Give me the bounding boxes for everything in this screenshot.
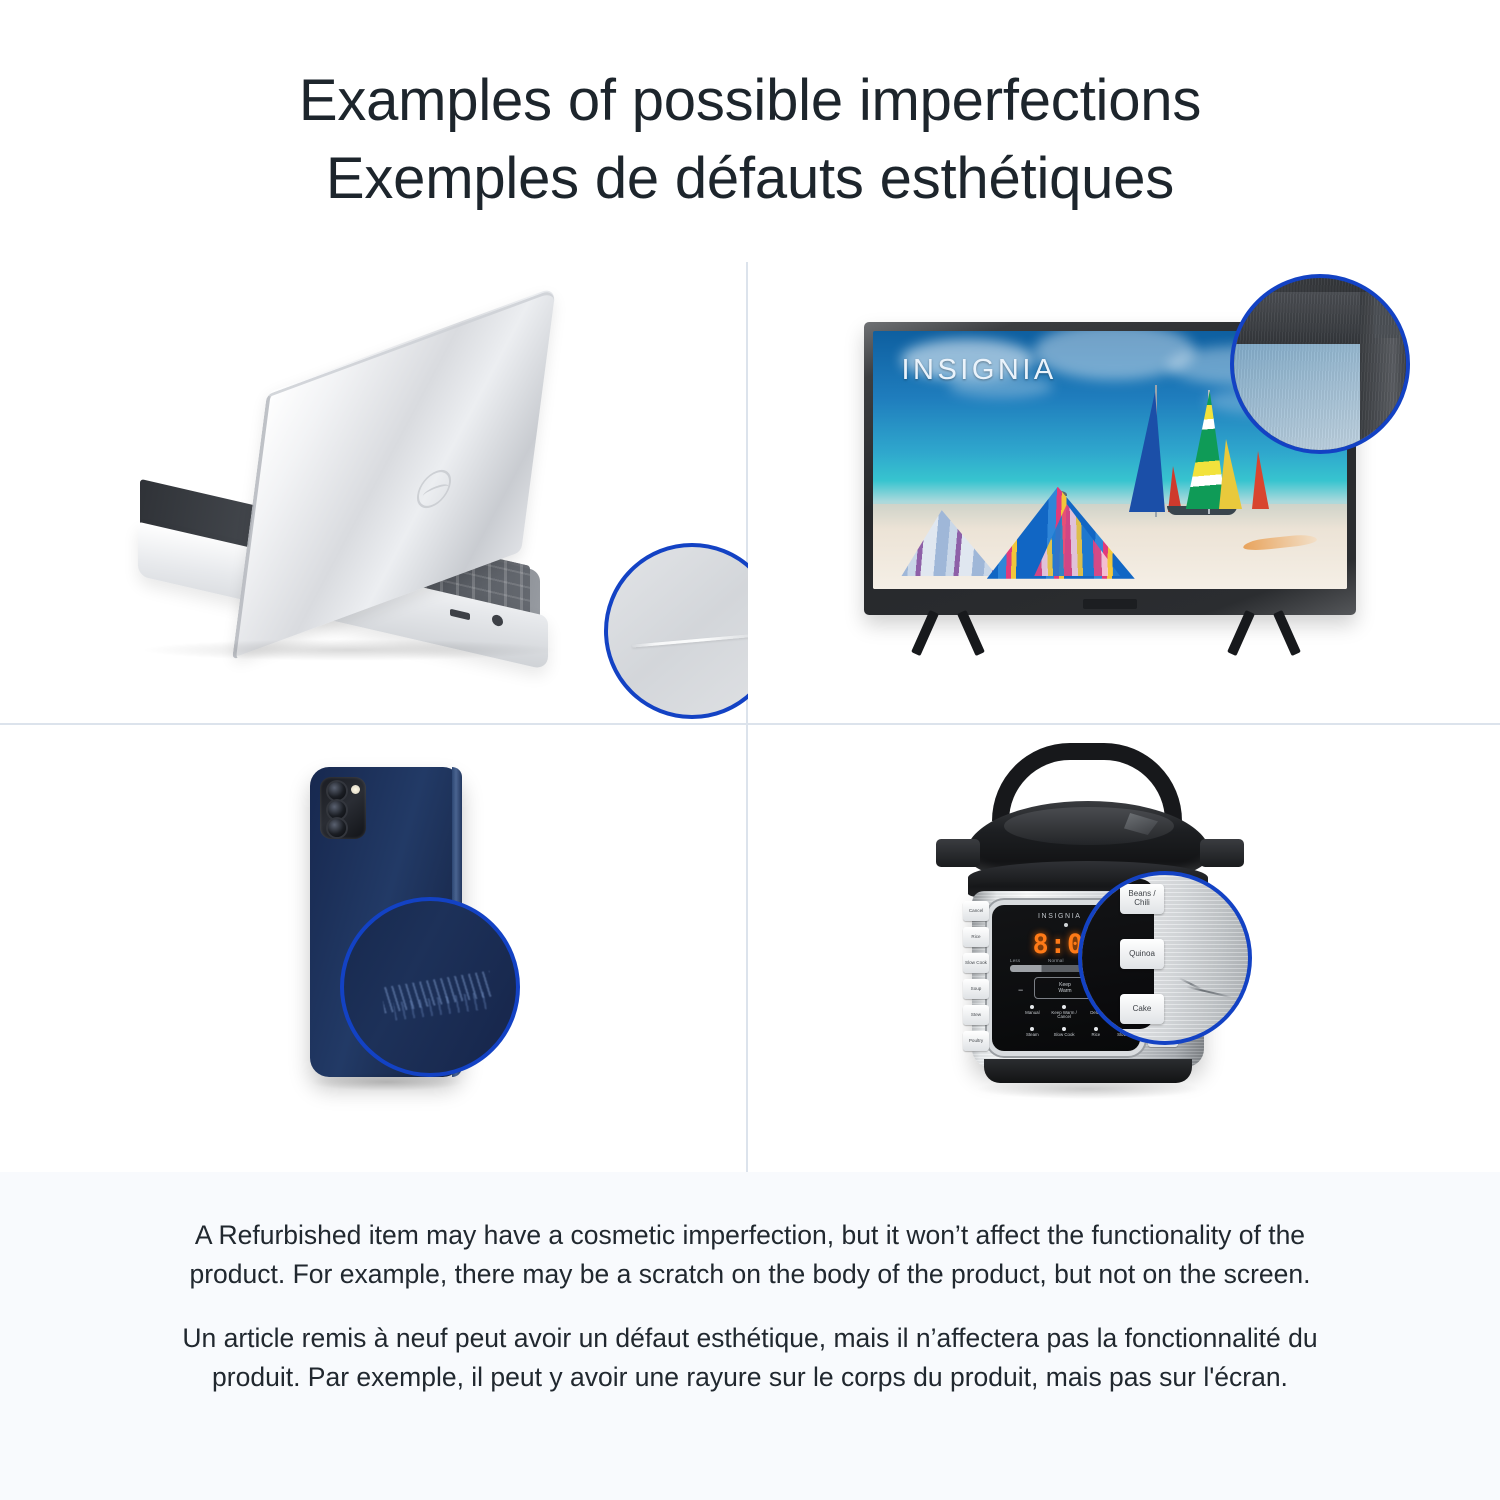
- pressure-cooker-graphic: INSIGNIA 8:00 Less Normal More Keep Warm: [928, 743, 1258, 1113]
- cooker-button[interactable]: Soup: [963, 979, 989, 999]
- cooker-brand-logo: INSIGNIA: [1038, 913, 1082, 920]
- magnifier-circle-pressure-cooker: lay w Cook Beans / Chili Quinoa Cake: [1078, 871, 1252, 1045]
- tv-stand-leg-left: [908, 610, 994, 652]
- keep-warm-line-2: Warm: [1058, 988, 1071, 994]
- slider-label-normal: Normal: [1048, 958, 1064, 963]
- red-sail: [1252, 451, 1269, 509]
- header: Examples of possible imperfections Exemp…: [0, 0, 1500, 262]
- page-title-fr: Exemples de défauts esthétiques: [326, 140, 1174, 218]
- function-key[interactable]: Steam: [1018, 1027, 1047, 1046]
- camera-module-icon: [320, 777, 366, 839]
- function-key[interactable]: Slow Cook: [1050, 1027, 1079, 1046]
- camera-flash-icon: [351, 785, 360, 794]
- function-key[interactable]: Manual: [1018, 1005, 1047, 1024]
- tv-screen-brand-logo: INSIGNIA: [901, 354, 1056, 387]
- example-cell-laptop: [0, 262, 748, 725]
- television-graphic: INSIGNIA: [864, 292, 1364, 652]
- camera-lens-icon: [328, 782, 346, 800]
- scratch-mark: [632, 633, 760, 647]
- zoomed-button-quinoa[interactable]: Quinoa: [1120, 939, 1164, 969]
- example-cell-smartphone: [0, 725, 748, 1172]
- laptop-illustration: [0, 262, 746, 723]
- footer-description: A Refurbished item may have a cosmetic i…: [0, 1172, 1500, 1500]
- page-title-en: Examples of possible imperfections: [299, 62, 1201, 140]
- red-sail: [1168, 466, 1182, 512]
- example-cell-pressure-cooker: INSIGNIA 8:00 Less Normal More Keep Warm: [748, 725, 1500, 1172]
- infographic-page: Examples of possible imperfections Exemp…: [0, 0, 1500, 1500]
- smartphone-illustration: [0, 725, 746, 1172]
- product-examples-grid: INSIGNIA: [0, 262, 1500, 1172]
- function-key[interactable]: Keep Warm / Cancel: [1050, 1005, 1079, 1024]
- description-paragraph-en: A Refurbished item may have a cosmetic i…: [170, 1216, 1330, 1293]
- zoomed-button-column: Beans / Chili Quinoa Cake: [1120, 871, 1164, 1037]
- cloud-shape: [1034, 331, 1195, 380]
- laptop-graphic: [130, 347, 650, 677]
- example-cell-television: INSIGNIA: [748, 262, 1500, 725]
- cooker-button[interactable]: Poultry: [963, 1031, 989, 1051]
- slider-label-less: Less: [1010, 958, 1020, 963]
- tv-logo-bar: [1083, 599, 1137, 609]
- smartphone-graphic: [260, 767, 500, 1107]
- description-paragraph-fr: Un article remis à neuf peut avoir un dé…: [170, 1319, 1330, 1396]
- tv-stand-leg-right: [1224, 610, 1310, 652]
- cooker-shadow: [978, 1079, 1198, 1099]
- camera-lens-icon: [328, 801, 346, 819]
- zoomed-texture-grain: [1234, 278, 1406, 450]
- blue-sail: [1129, 392, 1165, 512]
- magnifier-circle-television: [1230, 274, 1410, 454]
- laptop-shadow: [140, 639, 560, 661]
- status-led-icon: [1064, 923, 1068, 927]
- camera-lens-icon: [328, 819, 346, 837]
- cooker-button[interactable]: Stew: [963, 1005, 989, 1025]
- cooker-button[interactable]: Cancel: [963, 901, 989, 921]
- zoomed-button-beans-chili[interactable]: Beans / Chili: [1120, 884, 1164, 914]
- cooker-side-ear-left: [936, 839, 980, 867]
- cooker-side-ear-right: [1200, 839, 1244, 867]
- television-illustration: INSIGNIA: [748, 262, 1500, 723]
- pressure-cooker-illustration: INSIGNIA 8:00 Less Normal More Keep Warm: [748, 725, 1500, 1172]
- cooker-button[interactable]: Slow Cook: [963, 953, 989, 973]
- zoomed-button-cake[interactable]: Cake: [1120, 994, 1164, 1024]
- cooker-button[interactable]: Rice: [963, 927, 989, 947]
- decrement-icon[interactable]: −: [1018, 985, 1023, 995]
- cooker-left-button-column: Cancel Rice Slow Cook Soup Stew Poultry: [963, 901, 989, 1051]
- magnifier-circle-smartphone: [340, 897, 520, 1077]
